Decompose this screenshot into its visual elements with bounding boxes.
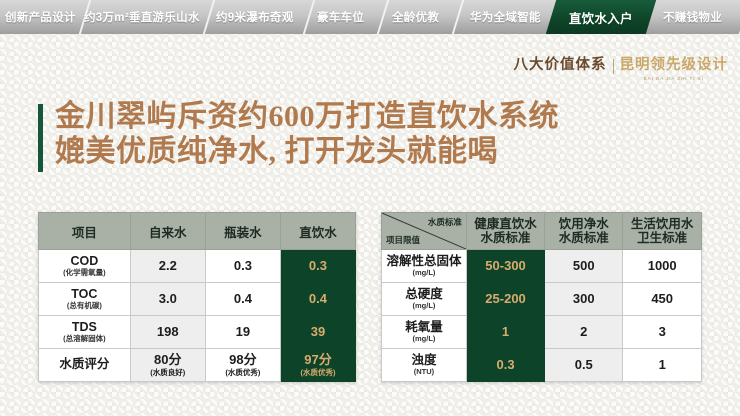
water-standards-table: 水质标准项目限值健康直饮水水质标准饮用净水水质标准生活饮用水卫生标准 溶解性总固… bbox=[381, 212, 702, 382]
row-label-cell: 总硬度(mg/L) bbox=[382, 283, 467, 316]
header-line-1: 饮用净水 bbox=[546, 217, 621, 231]
row-label-sub: (总有机碳) bbox=[40, 301, 129, 310]
cell-value: 98分 bbox=[207, 353, 279, 367]
cell-value: 0.3 bbox=[207, 259, 279, 273]
row-label-sub: (总溶解固体) bbox=[40, 334, 129, 343]
row-label-cell: 水质评分 bbox=[39, 349, 131, 382]
nav-tab-label: 豪车车位 bbox=[317, 9, 364, 25]
data-cell: 97分(水质优秀) bbox=[280, 349, 355, 382]
table-left-header-cell: 直饮水 bbox=[280, 213, 355, 250]
table-row: 溶解性总固体(mg/L)50-3005001000 bbox=[382, 250, 702, 283]
row-label-main: COD bbox=[40, 255, 129, 269]
data-cell: 98分(水质优秀) bbox=[205, 349, 280, 382]
cell-value: 19 bbox=[207, 325, 279, 339]
table-right-header-cell: 生活饮用水卫生标准 bbox=[623, 213, 702, 250]
data-cell: 39 bbox=[280, 316, 355, 349]
cell-value: 0.5 bbox=[546, 358, 621, 372]
header-line-2: 卫生标准 bbox=[624, 231, 700, 245]
table-left-head: 项目自来水瓶装水直饮水 bbox=[39, 213, 356, 250]
table-right-body: 溶解性总固体(mg/L)50-3005001000总硬度(mg/L)25-200… bbox=[382, 250, 702, 382]
header-line-1: 健康直饮水 bbox=[468, 217, 543, 231]
cell-value: 25-200 bbox=[468, 292, 543, 306]
top-navigation-bar: 创新产品设计约3万m²垂直游乐山水约9米瀑布奇观豪车车位全龄优教华为全域智能直饮… bbox=[0, 0, 740, 34]
cell-value: 1000 bbox=[624, 259, 700, 273]
row-label-cell: TOC(总有机碳) bbox=[39, 283, 131, 316]
table-row: TOC(总有机碳)3.00.40.4 bbox=[39, 283, 356, 316]
table-left-body: COD(化学需氧量)2.20.30.3TOC(总有机碳)3.00.40.4TDS… bbox=[39, 250, 356, 382]
brand-sub-english: BAI DA JIA ZHI TI XI bbox=[644, 76, 704, 81]
data-cell: 0.4 bbox=[280, 283, 355, 316]
data-cell: 19 bbox=[205, 316, 280, 349]
row-label-sub: (mg/L) bbox=[383, 334, 465, 343]
cell-value: 1 bbox=[468, 325, 543, 339]
water-comparison-table: 项目自来水瓶装水直饮水 COD(化学需氧量)2.20.30.3TOC(总有机碳)… bbox=[38, 212, 356, 382]
row-label-cell: 耗氧量(mg/L) bbox=[382, 316, 467, 349]
brand-right-group: 昆明领先级设计 BAI DA JIA ZHI TI XI bbox=[620, 58, 729, 81]
table-right-header-row: 水质标准项目限值健康直饮水水质标准饮用净水水质标准生活饮用水卫生标准 bbox=[382, 213, 702, 250]
corner-bottom-left-label: 项目限值 bbox=[386, 234, 420, 246]
cell-value: 3.0 bbox=[132, 292, 204, 306]
data-cell: 1 bbox=[623, 349, 702, 382]
data-cell: 80分(水质良好) bbox=[130, 349, 205, 382]
data-cell: 3 bbox=[623, 316, 702, 349]
nav-tab-label: 约3万m²垂直游乐山水 bbox=[85, 9, 201, 25]
nav-tab-label: 华为全域智能 bbox=[470, 9, 541, 25]
data-cell: 1 bbox=[466, 316, 544, 349]
table-row: 总硬度(mg/L)25-200300450 bbox=[382, 283, 702, 316]
table-right-head: 水质标准项目限值健康直饮水水质标准饮用净水水质标准生活饮用水卫生标准 bbox=[382, 213, 702, 250]
row-label-sub: (mg/L) bbox=[383, 301, 465, 310]
brand-lockup: 八大价值体系 昆明领先级设计 BAI DA JIA ZHI TI XI bbox=[514, 58, 729, 81]
nav-tab-label: 约9米瀑布奇观 bbox=[215, 9, 293, 25]
header-line-2: 水质标准 bbox=[546, 231, 621, 245]
brand-separator bbox=[613, 59, 614, 74]
nav-tab-2[interactable]: 约3万m²垂直游乐山水 bbox=[69, 0, 216, 34]
nav-tab-label: 直饮水入户 bbox=[569, 8, 633, 27]
table-left-header-row: 项目自来水瓶装水直饮水 bbox=[39, 213, 356, 250]
table-left-header-cell: 项目 bbox=[39, 213, 131, 250]
row-label-sub: (mg/L) bbox=[383, 268, 465, 277]
data-cell: 0.4 bbox=[205, 283, 280, 316]
cell-value: 2 bbox=[546, 325, 621, 339]
cell-value: 0.4 bbox=[282, 292, 354, 306]
row-label-sub: (化学需氧量) bbox=[40, 268, 129, 277]
data-cell: 0.5 bbox=[545, 349, 623, 382]
table-row: 水质评分80分(水质良好)98分(水质优秀)97分(水质优秀) bbox=[39, 349, 356, 382]
cell-value: 97分 bbox=[282, 353, 354, 367]
cell-value: 0.4 bbox=[207, 292, 279, 306]
cell-value: 1 bbox=[624, 358, 700, 372]
data-cell: 500 bbox=[545, 250, 623, 283]
table-row: COD(化学需氧量)2.20.30.3 bbox=[39, 250, 356, 283]
row-label-cell: 溶解性总固体(mg/L) bbox=[382, 250, 467, 283]
cell-value: 2.2 bbox=[132, 259, 204, 273]
corner-top-right-label: 水质标准 bbox=[428, 216, 462, 228]
data-cell: 2.2 bbox=[130, 250, 205, 283]
header-line-1: 生活饮用水 bbox=[624, 217, 700, 231]
cell-value-sub: (水质优秀) bbox=[282, 368, 354, 377]
cell-value: 500 bbox=[546, 259, 621, 273]
data-cell: 2 bbox=[545, 316, 623, 349]
nav-tab-8[interactable]: 不赚钱物业 bbox=[634, 0, 740, 34]
headline-line-2: 媲美优质纯净水, 打开龙头就能喝 bbox=[55, 135, 559, 170]
cell-value: 80分 bbox=[132, 353, 204, 367]
cell-value: 39 bbox=[282, 325, 354, 339]
table-row: TDS(总溶解固体)1981939 bbox=[39, 316, 356, 349]
table-left-header-cell: 自来水 bbox=[130, 213, 205, 250]
brand-main-text: 八大价值体系 bbox=[514, 58, 607, 74]
cell-value: 50-300 bbox=[468, 259, 543, 273]
table-right-header-cell: 饮用净水水质标准 bbox=[545, 213, 623, 250]
table-right-header-cell: 健康直饮水水质标准 bbox=[466, 213, 544, 250]
headline-accent-bar bbox=[38, 104, 43, 172]
data-cell: 0.3 bbox=[205, 250, 280, 283]
row-label-sub: (NTU) bbox=[383, 367, 465, 376]
data-cell: 0.3 bbox=[466, 349, 544, 382]
row-label-main: TDS bbox=[40, 321, 129, 335]
slide-page: 创新产品设计约3万m²垂直游乐山水约9米瀑布奇观豪车车位全龄优教华为全域智能直饮… bbox=[0, 0, 740, 416]
row-label-main: 溶解性总固体 bbox=[383, 255, 465, 269]
cell-value-sub: (水质良好) bbox=[132, 368, 204, 377]
cell-value-sub: (水质优秀) bbox=[207, 368, 279, 377]
cell-value: 450 bbox=[624, 292, 700, 306]
cell-value: 0.3 bbox=[468, 358, 543, 372]
data-cell: 300 bbox=[545, 283, 623, 316]
page-title: 金川翠屿斥资约600万打造直饮水系统 媲美优质纯净水, 打开龙头就能喝 bbox=[55, 100, 559, 170]
cell-value: 198 bbox=[132, 325, 204, 339]
headline-block: 金川翠屿斥资约600万打造直饮水系统 媲美优质纯净水, 打开龙头就能喝 bbox=[38, 100, 559, 172]
headline-line-1: 金川翠屿斥资约600万打造直饮水系统 bbox=[55, 100, 559, 135]
data-cell: 50-300 bbox=[466, 250, 544, 283]
data-cell: 3.0 bbox=[130, 283, 205, 316]
cell-value: 0.3 bbox=[282, 259, 354, 273]
data-cell: 198 bbox=[130, 316, 205, 349]
row-label-main: 水质评分 bbox=[40, 358, 129, 372]
data-cell: 450 bbox=[623, 283, 702, 316]
nav-tab-label: 创新产品设计 bbox=[5, 9, 76, 25]
table-row: 浊度(NTU)0.30.51 bbox=[382, 349, 702, 382]
data-cell: 1000 bbox=[623, 250, 702, 283]
row-label-main: 耗氧量 bbox=[383, 321, 465, 335]
nav-tab-label: 全龄优教 bbox=[392, 9, 439, 25]
table-right-corner-header: 水质标准项目限值 bbox=[382, 213, 467, 250]
row-label-cell: 浊度(NTU) bbox=[382, 349, 467, 382]
table-left-header-cell: 瓶装水 bbox=[205, 213, 280, 250]
nav-tab-label: 不赚钱物业 bbox=[663, 9, 722, 25]
row-label-main: 总硬度 bbox=[383, 288, 465, 302]
table-row: 耗氧量(mg/L)123 bbox=[382, 316, 702, 349]
row-label-cell: COD(化学需氧量) bbox=[39, 250, 131, 283]
data-cell: 25-200 bbox=[466, 283, 544, 316]
cell-value: 3 bbox=[624, 325, 700, 339]
header-line-2: 水质标准 bbox=[468, 231, 543, 245]
row-label-main: TOC bbox=[40, 288, 129, 302]
row-label-cell: TDS(总溶解固体) bbox=[39, 316, 131, 349]
brand-sub-text: 昆明领先级设计 bbox=[620, 58, 729, 74]
row-label-main: 浊度 bbox=[383, 354, 465, 368]
data-cell: 0.3 bbox=[280, 250, 355, 283]
cell-value: 300 bbox=[546, 292, 621, 306]
